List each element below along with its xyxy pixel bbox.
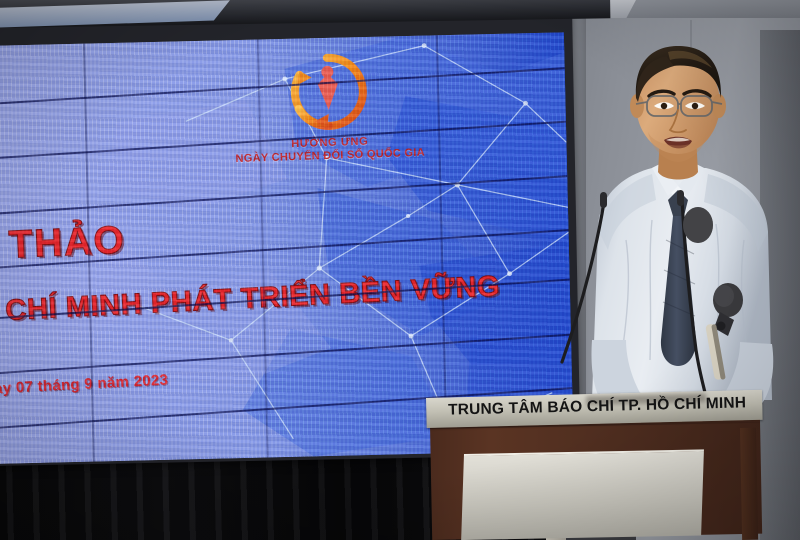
podium-right-trim	[740, 428, 758, 540]
speaker-figure	[556, 40, 800, 440]
podium-front-panel	[461, 449, 704, 540]
photo-scene: HƯỞNG ỨNG NGÀY CHUYỂN ĐỔI SỐ QUỐC GIA HỘ…	[0, 0, 800, 540]
handheld-microphone-on-stand	[690, 278, 760, 408]
podium: TRUNG TÂM BÁO CHÍ TP. HỒ CHÍ MINH	[428, 398, 758, 540]
rail-glint	[0, 0, 230, 28]
